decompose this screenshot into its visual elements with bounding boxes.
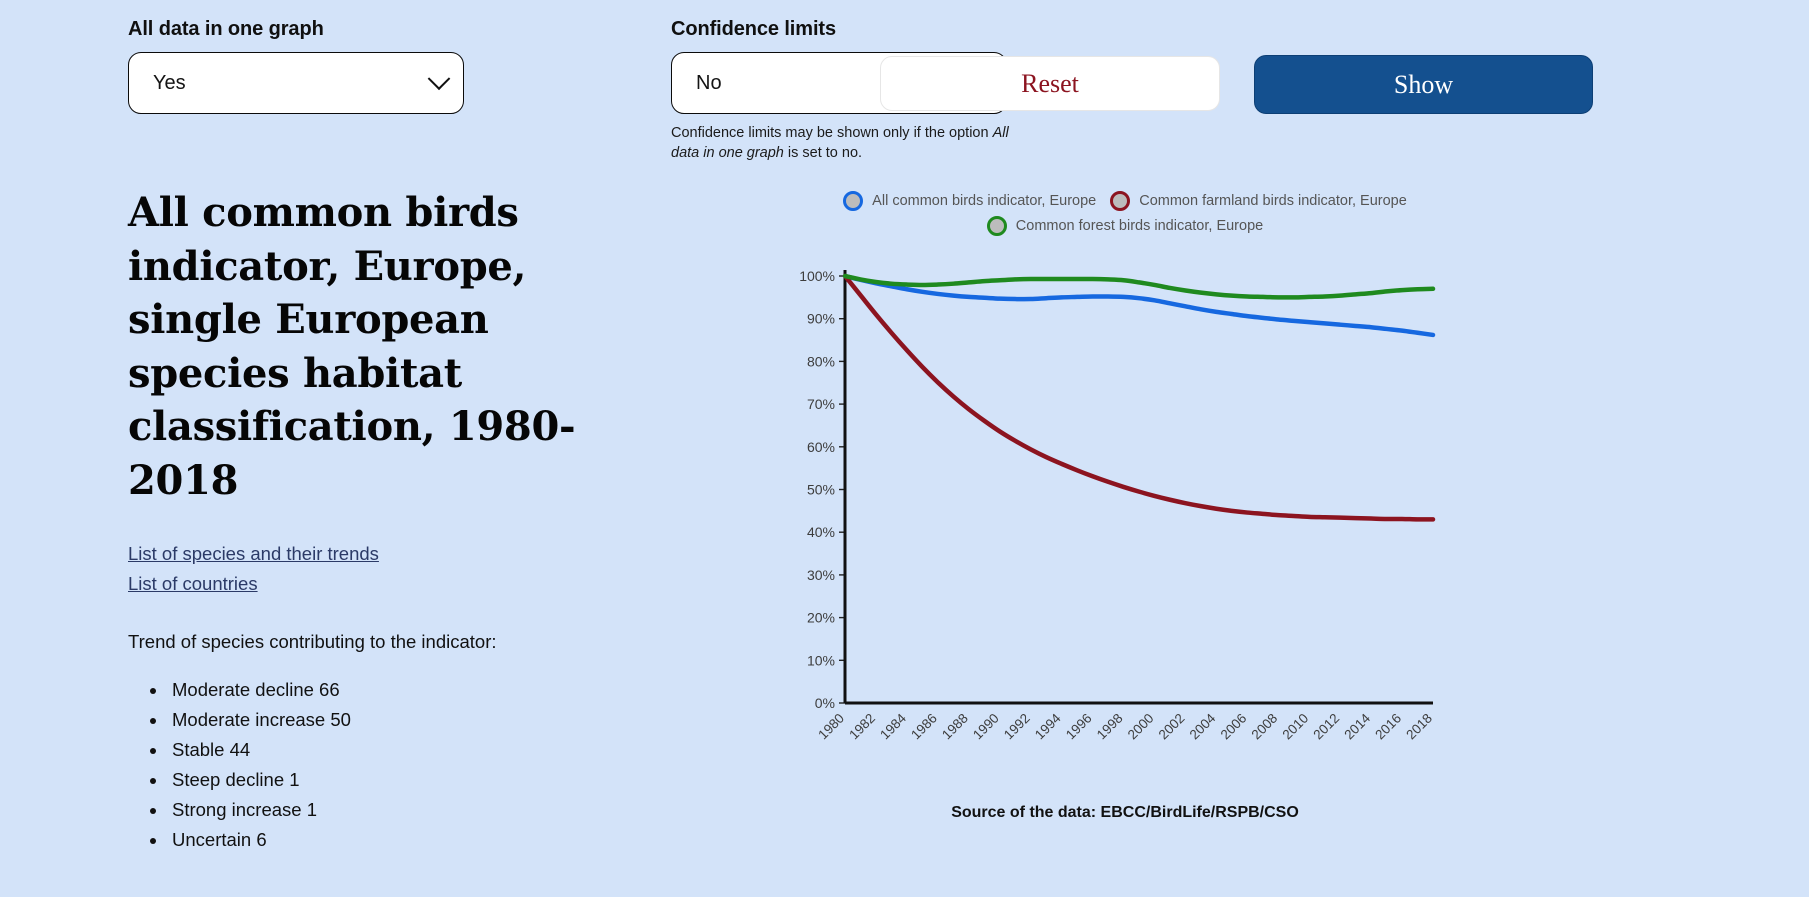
svg-text:0%: 0% — [815, 695, 835, 711]
list-item: Uncertain 6 — [168, 825, 578, 855]
svg-text:80%: 80% — [807, 353, 835, 369]
confidence-selected-value: No — [696, 72, 722, 95]
controls-row: All data in one graph Yes Confidence lim… — [128, 18, 1011, 163]
reset-button[interactable]: Reset — [880, 56, 1220, 111]
confidence-hint: Confidence limits may be shown only if t… — [671, 124, 1011, 163]
svg-text:2012: 2012 — [1310, 711, 1342, 743]
left-column: All common birds indicator, Europe, sing… — [128, 186, 578, 855]
link-list-of-species[interactable]: List of species and their trends — [128, 539, 578, 569]
svg-text:50%: 50% — [807, 482, 835, 498]
svg-text:70%: 70% — [807, 396, 835, 412]
svg-text:1984: 1984 — [877, 710, 909, 742]
legend-marker-icon — [987, 216, 1007, 236]
svg-text:40%: 40% — [807, 524, 835, 540]
legend-item-common-forest-birds[interactable]: Common forest birds indicator, Europe — [987, 216, 1263, 236]
svg-text:90%: 90% — [807, 311, 835, 327]
page-root: All data in one graph Yes Confidence lim… — [0, 0, 1809, 897]
all-data-label: All data in one graph — [128, 18, 464, 41]
legend-row-1: All common birds indicator, Europe Commo… — [795, 188, 1455, 213]
confidence-label: Confidence limits — [671, 18, 1011, 41]
svg-text:1980: 1980 — [815, 711, 847, 743]
svg-text:1994: 1994 — [1032, 710, 1064, 742]
svg-text:10%: 10% — [807, 652, 835, 668]
all-data-selected-value: Yes — [153, 72, 186, 95]
svg-text:1992: 1992 — [1001, 711, 1033, 743]
legend-label: Common farmland birds indicator, Europe — [1139, 193, 1407, 209]
legend-marker-icon — [843, 191, 863, 211]
svg-text:1982: 1982 — [846, 711, 878, 743]
list-item: Strong increase 1 — [168, 795, 578, 825]
list-item: Moderate decline 66 — [168, 675, 578, 705]
svg-text:2008: 2008 — [1249, 711, 1281, 743]
legend-row-2: Common forest birds indicator, Europe — [795, 213, 1455, 238]
hint-text-part2: is set to no. — [784, 145, 862, 161]
svg-text:30%: 30% — [807, 567, 835, 583]
page-title: All common birds indicator, Europe, sing… — [128, 186, 578, 507]
legend-label: Common forest birds indicator, Europe — [1016, 218, 1263, 234]
hint-text-part1: Confidence limits may be shown only if t… — [671, 125, 989, 141]
list-item: Moderate increase 50 — [168, 705, 578, 735]
svg-text:2018: 2018 — [1403, 711, 1435, 743]
svg-text:1986: 1986 — [908, 711, 940, 743]
svg-text:20%: 20% — [807, 610, 835, 626]
trend-intro-text: Trend of species contributing to the ind… — [128, 631, 578, 653]
svg-text:2016: 2016 — [1372, 711, 1404, 743]
all-data-select[interactable]: Yes — [128, 52, 464, 114]
svg-text:1988: 1988 — [939, 711, 971, 743]
legend-marker-icon — [1110, 191, 1130, 211]
trend-list: Moderate decline 66 Moderate increase 50… — [128, 675, 578, 855]
svg-text:2000: 2000 — [1125, 711, 1157, 743]
legend-item-common-farmland-birds[interactable]: Common farmland birds indicator, Europe — [1110, 191, 1407, 211]
link-list-of-countries[interactable]: List of countries — [128, 569, 578, 599]
field-all-data-in-one-graph: All data in one graph Yes — [128, 18, 464, 114]
chart-source-caption: Source of the data: EBCC/BirdLife/RSPB/C… — [795, 804, 1455, 822]
chart-legend: All common birds indicator, Europe Commo… — [795, 188, 1455, 238]
svg-text:1990: 1990 — [970, 711, 1002, 743]
line-chart-plot: 0%10%20%30%40%50%60%70%80%90%100%1980198… — [795, 238, 1455, 808]
svg-text:60%: 60% — [807, 439, 835, 455]
list-item: Stable 44 — [168, 735, 578, 765]
links-group: List of species and their trends List of… — [128, 539, 578, 599]
svg-text:1996: 1996 — [1063, 711, 1095, 743]
legend-label: All common birds indicator, Europe — [872, 193, 1096, 209]
svg-text:2006: 2006 — [1218, 711, 1250, 743]
svg-text:2010: 2010 — [1279, 711, 1311, 743]
svg-text:2004: 2004 — [1187, 710, 1219, 742]
list-item: Steep decline 1 — [168, 765, 578, 795]
svg-text:100%: 100% — [799, 268, 835, 284]
svg-text:2014: 2014 — [1341, 710, 1373, 742]
legend-item-all-common-birds[interactable]: All common birds indicator, Europe — [843, 191, 1096, 211]
chevron-down-icon — [428, 67, 451, 90]
show-button[interactable]: Show — [1254, 55, 1593, 114]
svg-text:1998: 1998 — [1094, 711, 1126, 743]
chart-container: All common birds indicator, Europe Commo… — [795, 188, 1455, 838]
svg-text:2002: 2002 — [1156, 711, 1188, 743]
